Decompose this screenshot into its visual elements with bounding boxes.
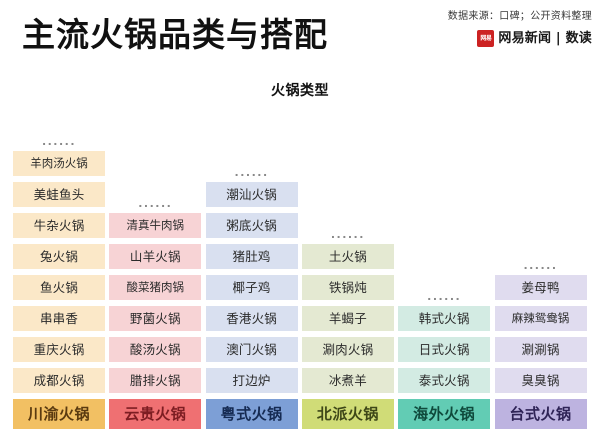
category-cell: 粥底火锅 — [206, 213, 298, 238]
category-cell: 土火锅 — [302, 244, 394, 269]
category-cell: 清真牛肉锅 — [109, 213, 201, 238]
category-column-beipai: ......土火锅铁锅炖羊蝎子涮肉火锅冰煮羊北派火锅 — [302, 226, 394, 429]
category-cell: 冰煮羊 — [302, 368, 394, 393]
category-cell: 泰式火锅 — [398, 368, 490, 393]
category-label-taishi: 台式火锅 — [495, 399, 587, 429]
category-cell: 美蛙鱼头 — [13, 182, 105, 207]
category-cell: 潮汕火锅 — [206, 182, 298, 207]
category-label-yungui: 云贵火锅 — [109, 399, 201, 429]
category-cell: 牛杂火锅 — [13, 213, 105, 238]
column-dots-marker: ...... — [206, 164, 298, 182]
category-cell: 串串香 — [13, 306, 105, 331]
category-cell: 重庆火锅 — [13, 337, 105, 362]
category-column-chuanyu: ......羊肉汤火锅美蛙鱼头牛杂火锅兔火锅鱼火锅串串香重庆火锅成都火锅川渝火锅 — [13, 133, 105, 429]
category-cell: 麻辣鸳鸯锅 — [495, 306, 587, 331]
category-cell: 山羊火锅 — [109, 244, 201, 269]
category-column-taishi: ......姜母鸭麻辣鸳鸯锅涮涮锅臭臭锅台式火锅 — [495, 257, 587, 429]
category-column-yungui: ......清真牛肉锅山羊火锅酸菜猪肉锅野菌火锅酸汤火锅腊排火锅云贵火锅 — [109, 195, 201, 429]
category-label-chuanyu: 川渝火锅 — [13, 399, 105, 429]
category-cell: 臭臭锅 — [495, 368, 587, 393]
category-label-beipai: 北派火锅 — [302, 399, 394, 429]
category-cell: 鱼火锅 — [13, 275, 105, 300]
column-dots-marker: ...... — [398, 288, 490, 306]
hotpot-category-grid: ......羊肉汤火锅美蛙鱼头牛杂火锅兔火锅鱼火锅串串香重庆火锅成都火锅川渝火锅… — [0, 0, 600, 429]
category-label-yueshi: 粤式火锅 — [206, 399, 298, 429]
column-dots-marker: ...... — [495, 257, 587, 275]
column-dots-marker: ...... — [13, 133, 105, 151]
category-cell: 羊肉汤火锅 — [13, 151, 105, 176]
category-cell: 羊蝎子 — [302, 306, 394, 331]
category-cell: 铁锅炖 — [302, 275, 394, 300]
category-cell: 香港火锅 — [206, 306, 298, 331]
category-cell: 酸汤火锅 — [109, 337, 201, 362]
category-cell: 野菌火锅 — [109, 306, 201, 331]
column-dots-marker: ...... — [302, 226, 394, 244]
category-cell: 椰子鸡 — [206, 275, 298, 300]
category-cell: 猪肚鸡 — [206, 244, 298, 269]
category-label-haiwai: 海外火锅 — [398, 399, 490, 429]
category-column-yueshi: ......潮汕火锅粥底火锅猪肚鸡椰子鸡香港火锅澳门火锅打边炉粤式火锅 — [206, 164, 298, 429]
category-cell: 涮涮锅 — [495, 337, 587, 362]
column-dots-marker: ...... — [109, 195, 201, 213]
category-cell: 兔火锅 — [13, 244, 105, 269]
category-cell: 韩式火锅 — [398, 306, 490, 331]
category-cell: 涮肉火锅 — [302, 337, 394, 362]
category-cell: 腊排火锅 — [109, 368, 201, 393]
category-cell: 姜母鸭 — [495, 275, 587, 300]
category-cell: 成都火锅 — [13, 368, 105, 393]
category-column-haiwai: ......韩式火锅日式火锅泰式火锅海外火锅 — [398, 288, 490, 429]
category-cell: 澳门火锅 — [206, 337, 298, 362]
category-cell: 酸菜猪肉锅 — [109, 275, 201, 300]
category-cell: 日式火锅 — [398, 337, 490, 362]
category-cell: 打边炉 — [206, 368, 298, 393]
